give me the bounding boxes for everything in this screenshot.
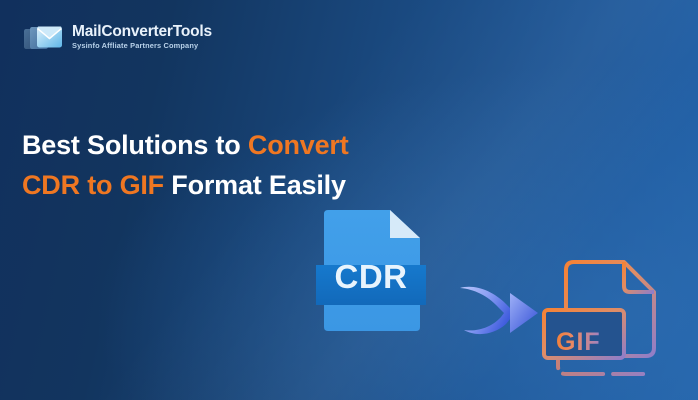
gif-file-icon: GIF: [536, 252, 664, 384]
headline-line-2: CDR to GIF Format Easily: [22, 166, 452, 206]
stacked-envelopes-icon: [22, 18, 68, 56]
brand-tagline: Sysinfo Affliate Partners Company: [72, 42, 212, 50]
headline-segment: Best Solutions to: [22, 130, 248, 160]
brand-logo[interactable]: MailConverterTools Sysinfo Affliate Part…: [22, 18, 212, 56]
headline-segment: Format Easily: [164, 170, 346, 200]
cdr-file-icon: CDR: [316, 208, 426, 333]
page-title: Best Solutions to Convert CDR to GIF For…: [22, 126, 452, 206]
brand-logo-text: MailConverterTools Sysinfo Affliate Part…: [72, 24, 212, 50]
brand-name: MailConverterTools: [72, 24, 212, 40]
headline-line-1: Best Solutions to Convert: [22, 126, 452, 166]
banner-graphic: MailConverterTools Sysinfo Affliate Part…: [0, 0, 698, 400]
headline-segment-accent: CDR to GIF: [22, 170, 164, 200]
headline-segment-accent: Convert: [248, 130, 349, 160]
